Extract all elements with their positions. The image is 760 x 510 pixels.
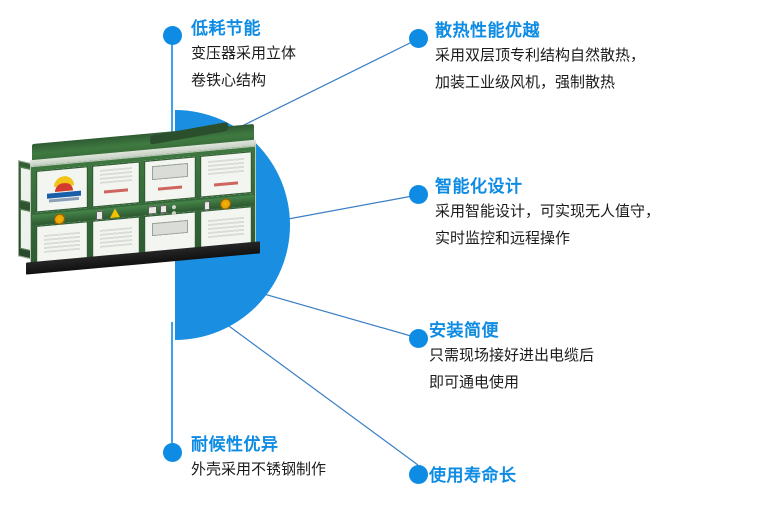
callout-line-heat-dissipation-1: 采用双层顶专利结构自然散热， xyxy=(435,42,645,69)
callout-title-heat-dissipation: 散热性能优越 xyxy=(435,20,645,42)
product-meter-4 xyxy=(204,201,210,211)
callout-line-easy-installation-1: 只需现场接好进出电缆后 xyxy=(429,342,594,369)
infographic-canvas: 低耗节能 变压器采用立体 卷铁心结构 散热性能优越 采用双层顶专利结构自然散热，… xyxy=(0,0,760,510)
product-nameplate-1 xyxy=(152,163,188,180)
product-meter-3 xyxy=(160,205,167,214)
bullet-icon-heat-dissipation xyxy=(409,29,428,48)
callout-title-long-service-life: 使用寿命长 xyxy=(429,465,517,487)
callout-title-low-consumption: 低耗节能 xyxy=(191,18,296,40)
product-louver-3 xyxy=(100,227,132,248)
bullet-icon-long-service-life xyxy=(409,465,428,484)
product-label-text-3 xyxy=(158,185,182,190)
product-panel-4-upper xyxy=(200,151,252,198)
callout-title-easy-installation: 安装简便 xyxy=(429,320,594,342)
callout-line-low-consumption-2: 卷铁心结构 xyxy=(191,67,296,94)
product-label-text-4 xyxy=(214,181,238,186)
callout-line-intelligent-design-2: 实时监控和远程操作 xyxy=(435,225,660,252)
callout-title-intelligent-design: 智能化设计 xyxy=(435,176,660,198)
product-panel-3-upper xyxy=(144,156,196,203)
product-louver-5 xyxy=(208,217,244,238)
callout-line-intelligent-design-1: 采用智能设计，可实现无人值守， xyxy=(435,198,660,225)
callout-line-easy-installation-2: 即可通电使用 xyxy=(429,369,594,396)
bullet-icon-intelligent-design xyxy=(409,185,428,204)
product-panel-1-upper xyxy=(36,166,88,213)
product-nameplate-2 xyxy=(152,220,188,236)
product-image-box-substation xyxy=(18,132,268,277)
bullet-icon-weather-resistance xyxy=(163,443,182,462)
callout-line-weather-resistance-1: 外壳采用不锈钢制作 xyxy=(191,456,326,483)
callout-line-low-consumption-1: 变压器采用立体 xyxy=(191,40,296,67)
product-meter-1 xyxy=(96,211,103,221)
product-panel-2-upper xyxy=(92,161,140,207)
callout-line-heat-dissipation-2: 加装工业级风机，强制散热 xyxy=(435,69,645,96)
connector-easy-installation xyxy=(250,290,418,338)
product-label-text-2 xyxy=(104,188,128,193)
product-meter-2 xyxy=(148,206,157,215)
product-louver-4 xyxy=(208,158,244,177)
product-louver-2 xyxy=(100,167,132,184)
connector-intelligent-design xyxy=(272,195,418,222)
bullet-icon-low-consumption xyxy=(163,26,182,45)
product-logo xyxy=(46,173,82,206)
product-louver-1 xyxy=(44,232,80,253)
bullet-icon-easy-installation xyxy=(409,329,428,348)
callout-title-weather-resistance: 耐候性优异 xyxy=(191,434,326,456)
product-warning-triangle-1 xyxy=(110,208,120,218)
